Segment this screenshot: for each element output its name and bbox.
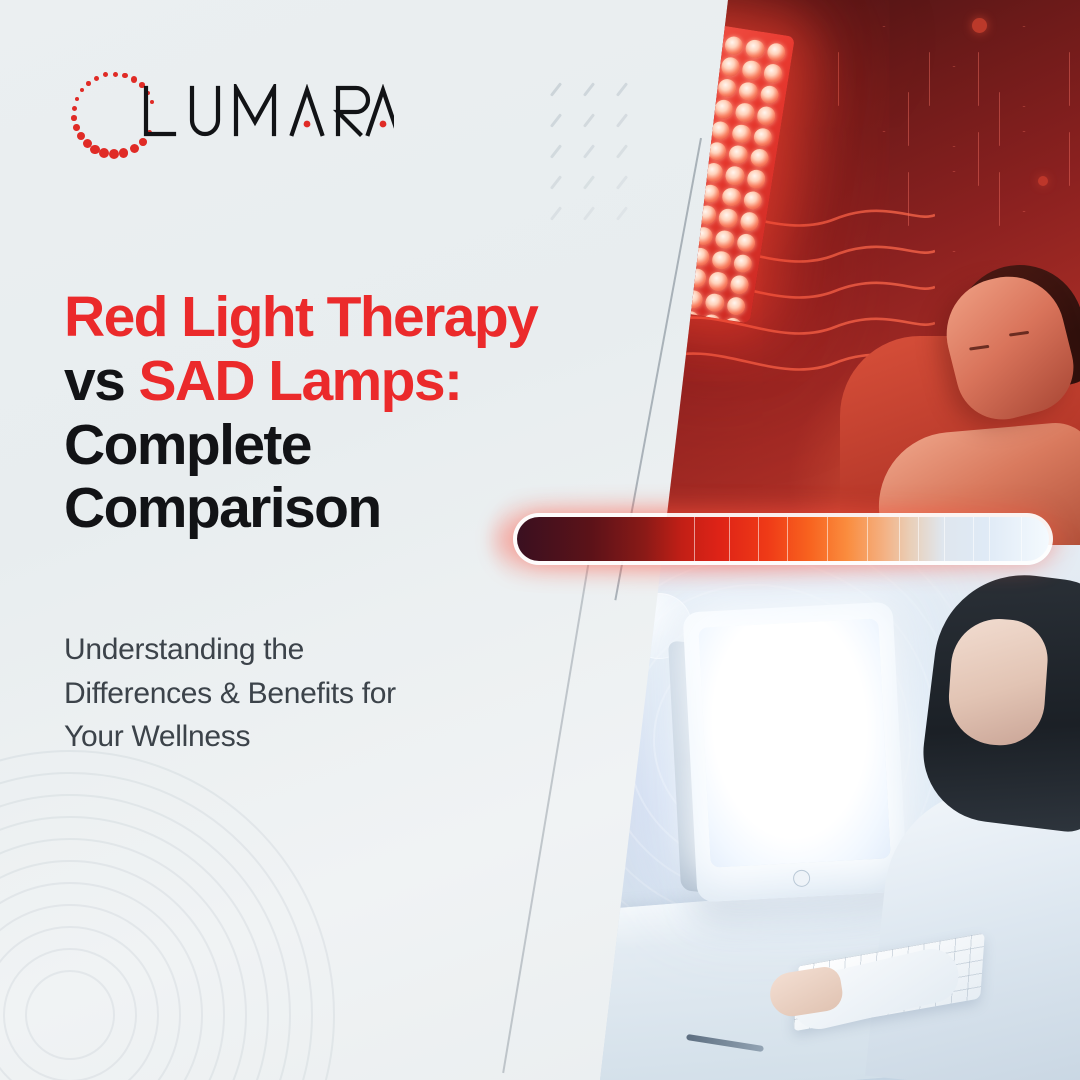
subtitle-line-3: Your Wellness	[64, 720, 250, 753]
subtitle-line-1: Understanding the	[64, 633, 304, 666]
headline-line-2-prefix: vs	[64, 349, 138, 413]
headline-line-4: Comparison	[64, 476, 381, 540]
headline-line-2-accent: SAD Lamps:	[138, 349, 461, 413]
page-subtitle: Understanding the Differences & Benefits…	[64, 628, 534, 759]
seated-person-face	[946, 616, 1051, 748]
lamp-light-panel	[698, 618, 890, 867]
poster-canvas: LUMARA	[0, 0, 1080, 1080]
subtitle-line-2: Differences & Benefits for	[64, 677, 396, 710]
light-wavelength-spectrum-bar	[513, 513, 1053, 565]
brand-logo[interactable]	[62, 62, 392, 172]
spectrum-segments	[517, 517, 1049, 561]
lamp-frame	[683, 602, 908, 903]
sad-lamp-photo	[600, 545, 1080, 1080]
headline-line-3: Complete	[64, 413, 311, 477]
headline-line-1: Red Light Therapy	[64, 285, 537, 349]
diagonal-dash-grid	[548, 88, 644, 228]
sad-lamp-device	[683, 602, 908, 903]
concentric-rings-decor	[0, 735, 350, 1080]
power-button-icon[interactable]	[793, 869, 811, 887]
brand-wordmark	[142, 84, 394, 140]
